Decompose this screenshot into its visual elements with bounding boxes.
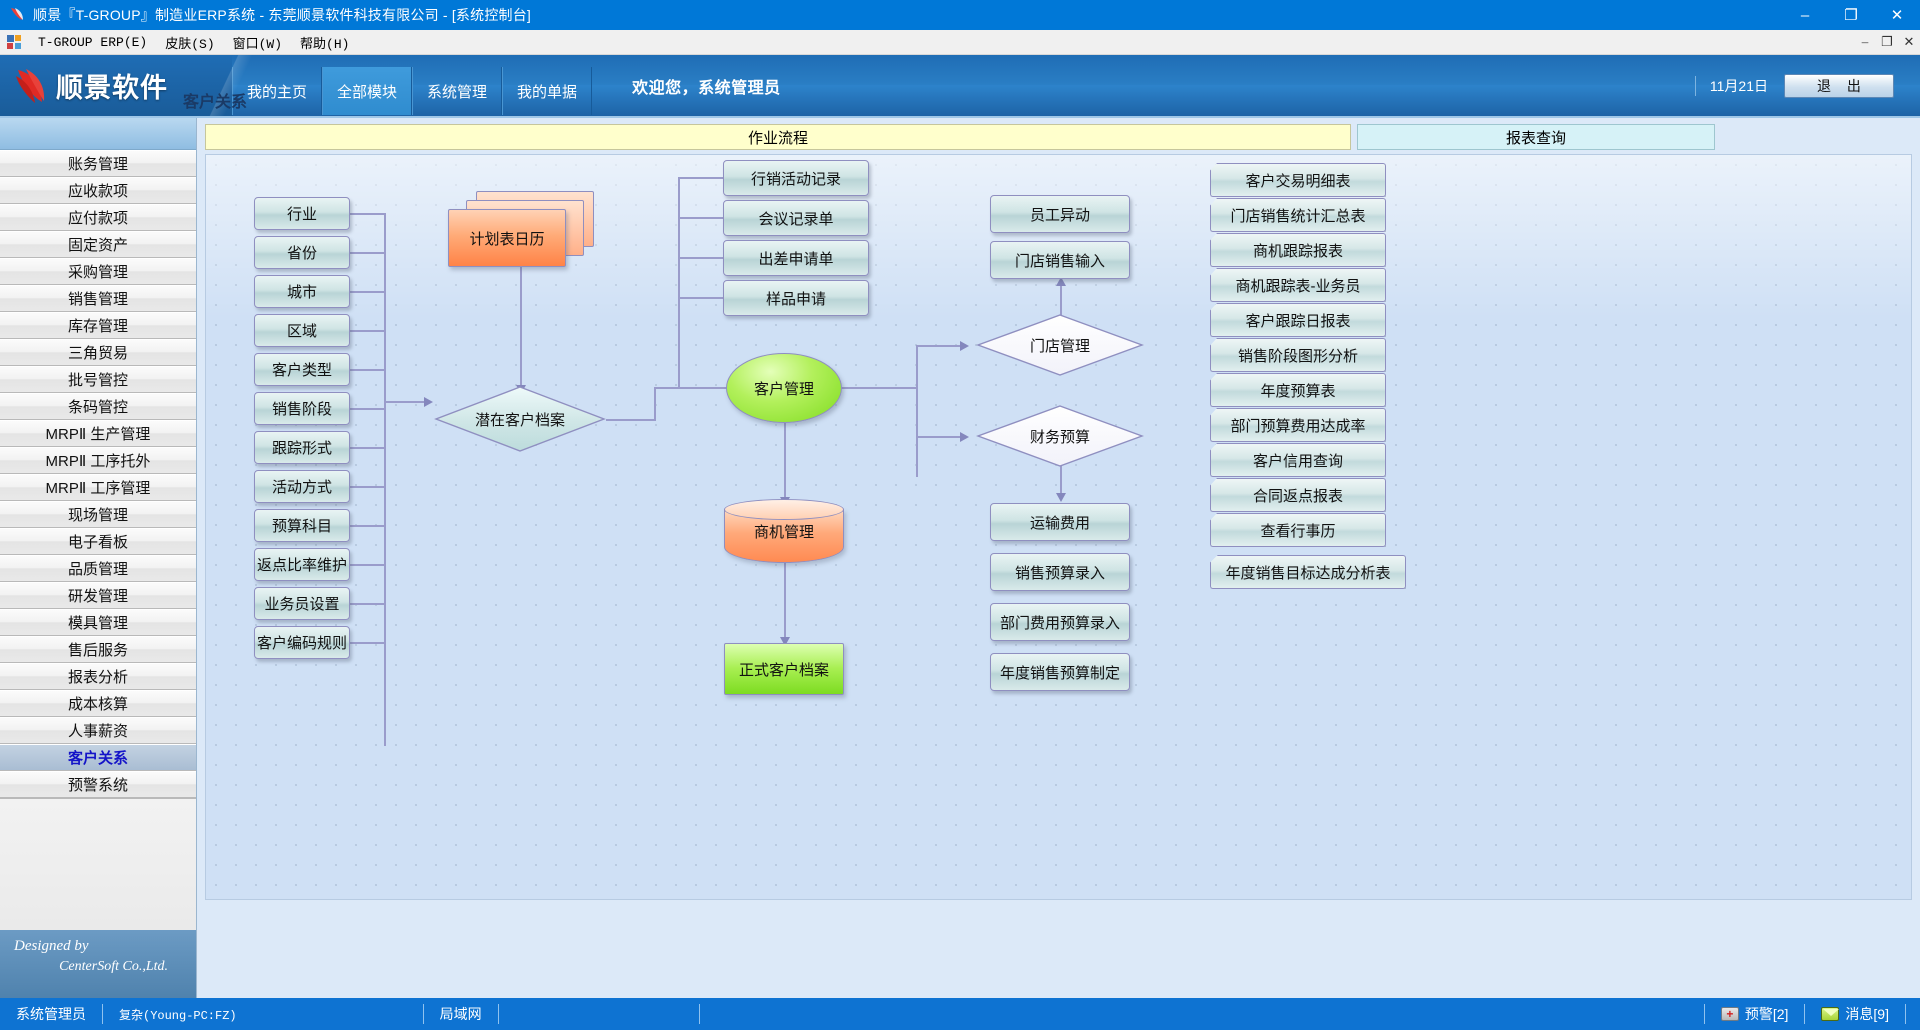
node-label: 部门费用预算录入 [1000, 612, 1120, 633]
report-node-opportunity-tracking[interactable]: 商机跟踪报表 [1210, 233, 1386, 267]
menu-bar: T-GROUP ERP(E) 皮肤(S) 窗口(W) 帮助(H) – ❐ ✕ [0, 30, 1920, 55]
section-bars: 作业流程 报表查询 [205, 124, 1912, 150]
app-logo-icon [8, 6, 26, 24]
connector-activity-1 [678, 177, 724, 179]
sidebar-item-shopfloor[interactable]: 现场管理 [0, 501, 196, 528]
report-node-dept-budget-achievement[interactable]: 部门预算费用达成率 [1210, 408, 1386, 442]
flow-node-customer-type[interactable]: 客户类型 [254, 353, 350, 386]
node-label: 客户跟踪日报表 [1245, 310, 1350, 331]
node-label: 员工异动 [1030, 204, 1090, 225]
sidebar-item-label: 报表分析 [68, 666, 128, 687]
node-label: 客户管理 [754, 378, 814, 399]
flow-node-tracking-type[interactable]: 跟踪形式 [254, 431, 350, 464]
sidebar-item-label: 人事薪资 [68, 720, 128, 741]
sidebar-item-kanban[interactable]: 电子看板 [0, 528, 196, 555]
node-label: 部门预算费用达成率 [1230, 415, 1365, 436]
window-minimize-button[interactable]: – [1782, 0, 1828, 30]
flow-node-region[interactable]: 区域 [254, 314, 350, 347]
report-node-customer-credit-query[interactable]: 客户信用查询 [1210, 443, 1386, 477]
node-label: 门店销售统计汇总表 [1230, 205, 1365, 226]
flow-node-sales-stage[interactable]: 销售阶段 [254, 392, 350, 425]
flow-node-business-trip-request[interactable]: 出差申请单 [723, 240, 869, 276]
node-label: 销售阶段 [272, 398, 332, 419]
node-label: 省份 [287, 242, 317, 263]
connector-to-store-diamond [916, 345, 964, 347]
connector-potential-right [606, 419, 656, 421]
node-label: 预算科目 [272, 515, 332, 536]
node-label: 运输费用 [1030, 512, 1090, 533]
connector-oppty-to-formal [784, 563, 786, 641]
arrow-finance-down [1056, 493, 1066, 502]
sidebar-item-label: 现场管理 [68, 504, 128, 525]
nav-tab-system-admin-label: 系统管理 [427, 81, 487, 102]
flow-node-budget-subject[interactable]: 预算科目 [254, 509, 350, 542]
sidebar-item-label: 模具管理 [68, 612, 128, 633]
node-label: 客户类型 [272, 359, 332, 380]
node-label: 活动方式 [272, 476, 332, 497]
flow-node-meeting-record[interactable]: 会议记录单 [723, 200, 869, 236]
sidebar-item-label: 库存管理 [68, 315, 128, 336]
report-node-contract-rebate[interactable]: 合同返点报表 [1210, 478, 1386, 512]
report-node-opportunity-tracking-salesperson[interactable]: 商机跟踪表-业务员 [1210, 268, 1386, 302]
warning-icon [1721, 1007, 1739, 1021]
report-node-annual-sales-target-analysis[interactable]: 年度销售目标达成分析表 [1210, 555, 1406, 589]
status-warning-label: 预警[2] [1745, 1004, 1789, 1024]
node-label: 出差申请单 [758, 248, 833, 269]
app-body: 账务管理 应收款项 应付款项 固定资产 采购管理 销售管理 库存管理 三角贸易 … [0, 118, 1920, 998]
node-label: 合同返点报表 [1253, 485, 1343, 506]
node-label: 年度销售预算制定 [1000, 662, 1120, 683]
connector-to-finance-diamond [916, 436, 964, 438]
sidebar-item-mrp-process[interactable]: MRPⅡ 工序管理 [0, 474, 196, 501]
node-label: 计划表日历 [469, 228, 544, 249]
nav-tab-all-modules-label: 全部模块 [337, 81, 397, 102]
sidebar-item-label: 成本核算 [68, 693, 128, 714]
report-node-view-calendar[interactable]: 查看行事历 [1210, 513, 1386, 547]
sidebar-item-label: 销售管理 [68, 288, 128, 309]
sidebar-item-label: 客户关系 [68, 747, 128, 768]
flow-node-dept-expense-budget-entry[interactable]: 部门费用预算录入 [990, 603, 1130, 641]
sidebar-item-account[interactable]: 账务管理 [0, 150, 196, 177]
node-label: 商机管理 [724, 499, 844, 563]
sidebar-filler [0, 798, 196, 930]
nav-tab-all-modules[interactable]: 全部模块 [322, 67, 412, 115]
sidebar-item-receivables[interactable]: 应收款项 [0, 177, 196, 204]
sidebar-header [0, 118, 196, 150]
node-label: 正式客户档案 [739, 659, 829, 680]
sidebar-item-alert-system[interactable]: 预警系统 [0, 771, 196, 798]
flow-node-salesperson-setup[interactable]: 业务员设置 [254, 587, 350, 620]
connector-cust-to-oppty [784, 423, 786, 501]
sidebar-item-label: 账务管理 [68, 153, 128, 174]
sidebar-item-customer-relations[interactable]: 客户关系 [0, 744, 196, 771]
window-title: 顺景『T-GROUP』制造业ERP系统 - 东莞顺景软件科技有限公司 - [系统… [33, 5, 531, 25]
status-machine: 复杂(Young-PC:FZ) [103, 1004, 253, 1024]
bar-work-flow-label: 作业流程 [748, 127, 808, 148]
sidebar-item-inventory[interactable]: 库存管理 [0, 312, 196, 339]
sidebar-item-triangle-trade[interactable]: 三角贸易 [0, 339, 196, 366]
node-label: 门店管理 [976, 313, 1144, 377]
header-date: 11月21日 [1695, 76, 1768, 96]
mdi-minimize-button[interactable]: – [1854, 34, 1876, 50]
arrow-to-potential [424, 397, 433, 407]
flow-node-customer-code-rule[interactable]: 客户编码规则 [254, 626, 350, 659]
connector-calendar-down [520, 267, 522, 389]
flow-node-store-management[interactable]: 门店管理 [976, 313, 1144, 377]
sidebar-item-label: 应收款项 [68, 180, 128, 201]
sidebar-brand-footer: Designed by CenterSoft Co.,Ltd. [0, 930, 196, 998]
sidebar-item-label: 批号管控 [68, 369, 128, 390]
sidebar-item-quality[interactable]: 品质管理 [0, 555, 196, 582]
nav-tab-my-documents-label: 我的单据 [517, 81, 577, 102]
connector-bus-to-potential [384, 401, 426, 403]
sidebar: 账务管理 应收款项 应付款项 固定资产 采购管理 销售管理 库存管理 三角贸易 … [0, 118, 197, 998]
logout-button[interactable]: 退 出 [1784, 74, 1894, 98]
node-label: 城市 [287, 281, 317, 302]
status-warning[interactable]: 预警[2] [1705, 1004, 1805, 1024]
mdi-close-button[interactable]: ✕ [1898, 34, 1920, 50]
sidebar-item-rnd[interactable]: 研发管理 [0, 582, 196, 609]
sidebar-item-mrp-outsourcing[interactable]: MRPⅡ 工序托外 [0, 447, 196, 474]
node-label: 门店销售输入 [1015, 250, 1105, 271]
flow-node-employee-transfer[interactable]: 员工异动 [990, 195, 1130, 233]
flow-node-rebate-rate[interactable]: 返点比率维护 [254, 548, 350, 581]
mdi-restore-button[interactable]: ❐ [1876, 34, 1898, 50]
node-label: 销售阶段图形分析 [1238, 345, 1358, 366]
flow-node-marketing-activity-record[interactable]: 行销活动记录 [723, 160, 869, 196]
connector-activity-bus [678, 177, 680, 389]
flowchart-canvas: 行业 省份 城市 区域 客户类型 销售阶段 跟踪形式 活动方式 预算科目 返点比… [205, 154, 1912, 900]
shunjing-logo-icon [14, 67, 48, 105]
sidebar-item-label: MRPⅡ 工序管理 [46, 477, 151, 498]
arrow-to-finance-diamond [960, 432, 969, 442]
node-label: 销售预算录入 [1015, 562, 1105, 583]
node-label: 潜在客户档案 [434, 385, 606, 453]
sidebar-item-report-analysis[interactable]: 报表分析 [0, 663, 196, 690]
node-label: 区域 [287, 320, 317, 341]
brand-name: 顺景软件 [56, 66, 168, 105]
report-node-customer-tracking-daily[interactable]: 客户跟踪日报表 [1210, 303, 1386, 337]
node-label: 年度销售目标达成分析表 [1225, 562, 1390, 583]
report-node-sales-stage-chart[interactable]: 销售阶段图形分析 [1210, 338, 1386, 372]
status-divider-7 [1905, 1004, 1906, 1024]
flow-node-sales-budget-entry[interactable]: 销售预算录入 [990, 553, 1130, 591]
bar-report-query: 报表查询 [1357, 124, 1715, 150]
node-label: 客户交易明细表 [1245, 170, 1350, 191]
flow-node-finance-budget[interactable]: 财务预算 [976, 404, 1144, 468]
node-label: 客户编码规则 [257, 632, 347, 653]
flow-node-sample-request[interactable]: 样品申请 [723, 280, 869, 316]
node-label: 商机跟踪表-业务员 [1236, 275, 1361, 296]
menu-item-help[interactable]: 帮助(H) [291, 31, 358, 54]
node-label: 跟踪形式 [272, 437, 332, 458]
node-label: 客户信用查询 [1253, 450, 1343, 471]
sidebar-item-fixed-assets[interactable]: 固定资产 [0, 231, 196, 258]
connector-activity-2 [678, 217, 724, 219]
status-bar: 系统管理员 复杂(Young-PC:FZ) 局域网 预警[2] 消息[9] [0, 998, 1920, 1030]
nav-tab-home-label: 我的主页 [247, 81, 307, 102]
flow-node-potential-customer[interactable]: 潜在客户档案 [434, 385, 606, 453]
flow-node-annual-sales-budget[interactable]: 年度销售预算制定 [990, 653, 1130, 691]
message-icon [1821, 1007, 1839, 1021]
status-slot-1 [499, 1004, 699, 1024]
menu-item-erp[interactable]: T-GROUP ERP(E) [29, 33, 156, 52]
window-close-button[interactable]: ✕ [1874, 0, 1920, 30]
bar-work-flow: 作业流程 [205, 124, 1351, 150]
node-label: 返点比率维护 [257, 554, 347, 575]
sidebar-item-label: 三角贸易 [68, 342, 128, 363]
sidebar-item-batch-control[interactable]: 批号管控 [0, 366, 196, 393]
window-maximize-button[interactable]: ❐ [1828, 0, 1874, 30]
flow-node-customer-management[interactable]: 客户管理 [726, 353, 842, 423]
sidebar-item-after-sales[interactable]: 售后服务 [0, 636, 196, 663]
sidebar-item-hr-payroll[interactable]: 人事薪资 [0, 717, 196, 744]
flow-node-industry[interactable]: 行业 [254, 197, 350, 230]
sidebar-item-label: 应付款项 [68, 207, 128, 228]
welcome-message: 欢迎您，系统管理员 [592, 55, 781, 116]
sidebar-item-label: 条码管控 [68, 396, 128, 417]
main-content: 客户关系 作业流程 报表查询 [197, 118, 1920, 998]
sidebar-item-mold[interactable]: 模具管理 [0, 609, 196, 636]
report-node-annual-budget[interactable]: 年度预算表 [1210, 373, 1386, 407]
sidebar-item-sales[interactable]: 销售管理 [0, 285, 196, 312]
node-label: 会议记录单 [758, 208, 833, 229]
node-label: 业务员设置 [264, 593, 339, 614]
nav-tab-my-documents[interactable]: 我的单据 [502, 67, 592, 115]
sidebar-item-payables[interactable]: 应付款项 [0, 204, 196, 231]
connector-potential-to-cust [654, 387, 736, 389]
status-divider-4 [699, 1004, 700, 1024]
brand-company: CenterSoft Co.,Ltd. [14, 959, 186, 975]
node-label: 商机跟踪报表 [1253, 240, 1343, 261]
app-header: 顺景软件 我的主页 全部模块 系统管理 我的单据 欢迎您，系统管理员 11月21… [0, 55, 1920, 118]
arrow-to-store-diamond [960, 341, 969, 351]
sidebar-item-barcode-control[interactable]: 条码管控 [0, 393, 196, 420]
nav-tab-system-admin[interactable]: 系统管理 [412, 67, 502, 115]
sidebar-item-label: MRPⅡ 工序托外 [46, 450, 151, 471]
connector-activity-4 [678, 297, 724, 299]
flow-node-store-sales-input[interactable]: 门店销售输入 [990, 241, 1130, 279]
node-label: 年度预算表 [1260, 380, 1335, 401]
sidebar-item-label: 采购管理 [68, 261, 128, 282]
mdi-app-icon [6, 34, 22, 50]
connector-activity-3 [678, 257, 724, 259]
status-user: 系统管理员 [0, 1004, 102, 1024]
flow-node-opportunity-management[interactable]: 商机管理 [724, 499, 844, 563]
status-message[interactable]: 消息[9] [1805, 1004, 1905, 1024]
sidebar-item-label: 电子看板 [68, 531, 128, 552]
sidebar-item-mrp-production[interactable]: MRPⅡ 生产管理 [0, 420, 196, 447]
status-message-label: 消息[9] [1845, 1004, 1889, 1024]
sidebar-item-label: 固定资产 [68, 234, 128, 255]
connector-potential-up [654, 387, 656, 421]
node-label: 财务预算 [976, 404, 1144, 468]
bar-report-query-label: 报表查询 [1506, 127, 1566, 148]
node-label: 行销活动记录 [751, 168, 841, 189]
flow-node-formal-customer-file[interactable]: 正式客户档案 [724, 643, 844, 695]
node-label: 行业 [287, 203, 317, 224]
node-label: 查看行事历 [1260, 520, 1335, 541]
sidebar-item-label: 预警系统 [68, 774, 128, 795]
sidebar-item-label: 售后服务 [68, 639, 128, 660]
sidebar-item-label: 品质管理 [68, 558, 128, 579]
flow-node-city[interactable]: 城市 [254, 275, 350, 308]
sidebar-item-label: 研发管理 [68, 585, 128, 606]
page-title: 客户关系 [183, 88, 247, 112]
flow-node-activity-type[interactable]: 活动方式 [254, 470, 350, 503]
sidebar-item-label: MRPⅡ 生产管理 [46, 423, 151, 444]
connector-cust-right [840, 387, 918, 389]
calendar-front[interactable]: 计划表日历 [448, 209, 566, 267]
sidebar-item-purchasing[interactable]: 采购管理 [0, 258, 196, 285]
flow-node-transport-expense[interactable]: 运输费用 [990, 503, 1130, 541]
report-node-customer-transaction-detail[interactable]: 客户交易明细表 [1210, 163, 1386, 197]
flow-node-province[interactable]: 省份 [254, 236, 350, 269]
sidebar-item-cost-accounting[interactable]: 成本核算 [0, 690, 196, 717]
status-network: 局域网 [424, 1004, 498, 1024]
window-titlebar: 顺景『T-GROUP』制造业ERP系统 - 东莞顺景软件科技有限公司 - [系统… [0, 0, 1920, 30]
menu-item-window[interactable]: 窗口(W) [224, 31, 291, 54]
brand-designed-by: Designed by [14, 938, 89, 954]
report-node-store-sales-summary[interactable]: 门店销售统计汇总表 [1210, 198, 1386, 232]
node-label: 样品申请 [766, 288, 826, 309]
connector-right-bus [916, 345, 918, 477]
menu-item-skin[interactable]: 皮肤(S) [156, 31, 223, 54]
flow-node-plan-calendar[interactable]: 计划表日历 [448, 191, 598, 271]
header-right-area: 11月21日 退 出 [1695, 55, 1920, 116]
